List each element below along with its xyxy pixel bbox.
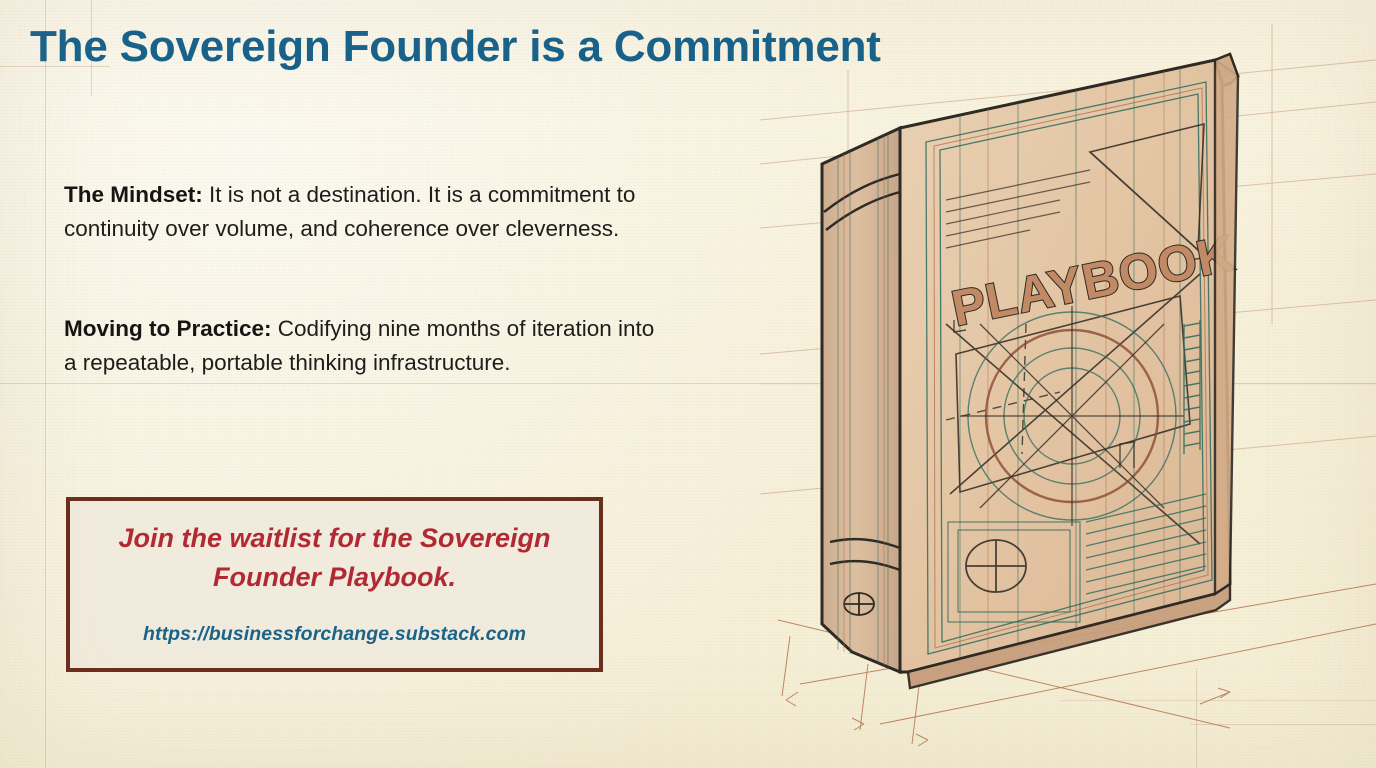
guide-line-vertical [45,0,46,768]
paragraph-mindset: The Mindset: It is not a destination. It… [64,178,664,245]
cover-circle-detail-icon [966,540,1026,592]
cta-url-link[interactable]: https://businessforchange.substack.com [143,623,526,646]
blueprint-book-illustration: PLAYBOOK [760,24,1376,768]
paragraph-practice: Moving to Practice: Codifying nine month… [64,312,664,379]
slide-canvas: The Sovereign Founder is a Commitment Th… [0,0,1376,768]
spine-emblem-icon [844,593,874,615]
book-svg: PLAYBOOK [760,24,1376,768]
page-title: The Sovereign Founder is a Commitment [30,22,881,72]
cta-box[interactable]: Join the waitlist for the Sovereign Foun… [66,497,603,672]
paragraph-lead-label: The Mindset: [64,182,203,207]
cta-headline: Join the waitlist for the Sovereign Foun… [100,519,570,597]
paragraph-lead-label: Moving to Practice: [64,316,272,341]
book-right-board [1215,54,1238,594]
